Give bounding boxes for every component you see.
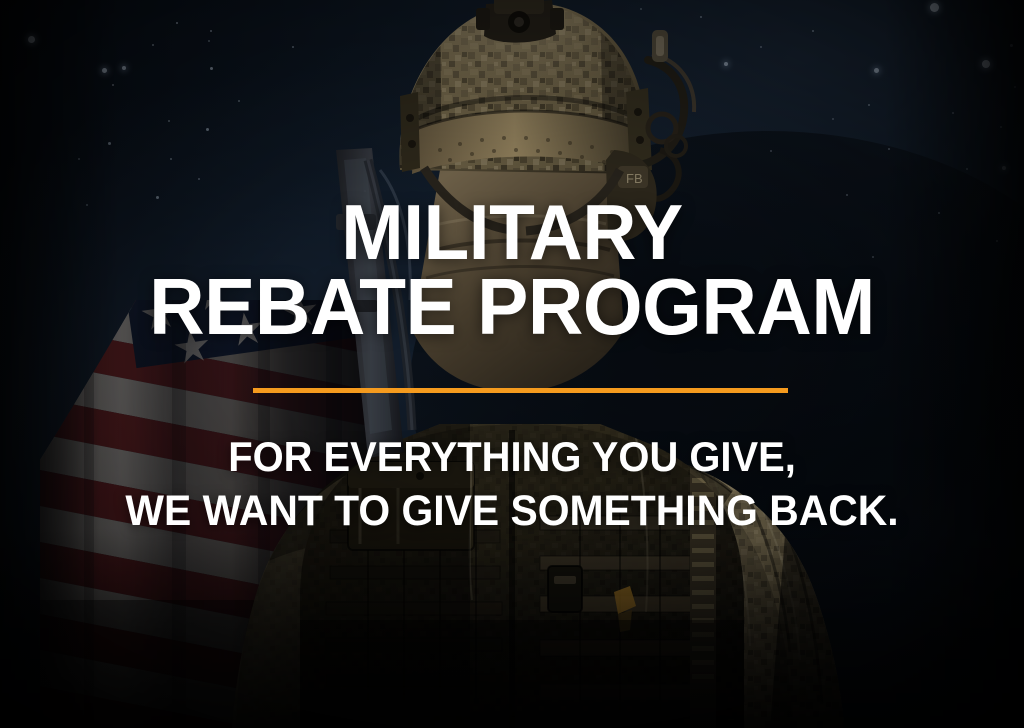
military-rebate-banner: FB MILITARY REBATE PROGRAM FOR EVERYTHIN… (0, 0, 1024, 728)
headline-line-2: REBATE PROGRAM (20, 269, 1003, 344)
headline: MILITARY REBATE PROGRAM (20, 196, 1003, 345)
headline-line-1: MILITARY (20, 196, 1003, 269)
subheadline: FOR EVERYTHING YOU GIVE, WE WANT TO GIVE… (26, 430, 999, 539)
subheadline-line-2: WE WANT TO GIVE SOMETHING BACK. (26, 484, 999, 539)
banner-content: MILITARY REBATE PROGRAM FOR EVERYTHING Y… (0, 0, 1024, 728)
subheadline-line-1: FOR EVERYTHING YOU GIVE, (26, 430, 999, 484)
orange-divider-rule-icon (253, 388, 788, 393)
